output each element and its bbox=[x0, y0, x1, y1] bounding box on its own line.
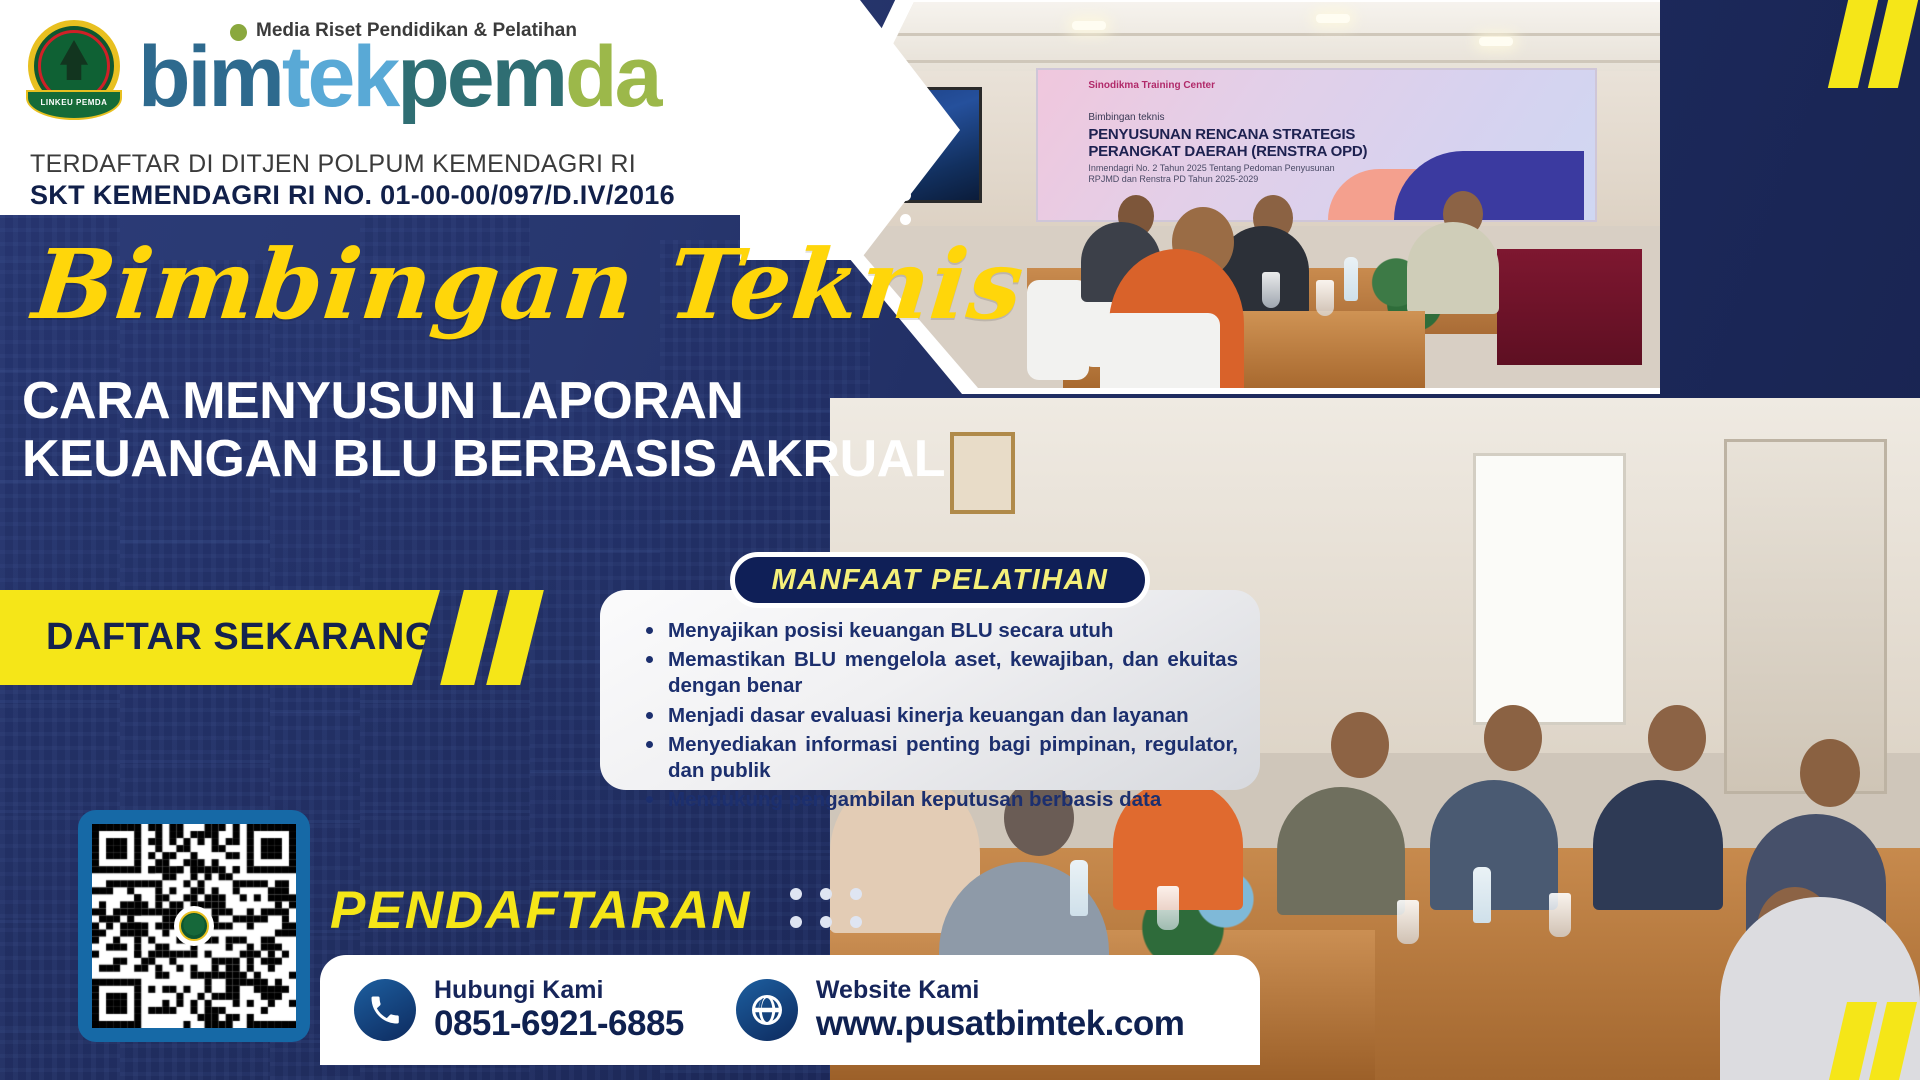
banner-kicker: Bimbingan teknis bbox=[1088, 112, 1164, 123]
benefits-card: Menyajikan posisi keuangan BLU secara ut… bbox=[600, 590, 1260, 790]
headline-line-1: CARA MENYUSUN LAPORAN bbox=[22, 372, 743, 430]
banner-title: PENYUSUNAN RENCANA STRATEGIS PERANGKAT D… bbox=[1088, 127, 1367, 161]
website-value: www.pusatbimtek.com bbox=[816, 1004, 1184, 1043]
qr-bitmap bbox=[92, 824, 296, 1028]
registration-line-1: TERDAFTAR DI DITJEN POLPUM KEMENDAGRI RI bbox=[30, 150, 636, 179]
phone-label: Hubungi Kami bbox=[434, 977, 684, 1004]
brand-header: LINKEU PEMDA Media Riset Pendidikan & Pe… bbox=[0, 0, 880, 215]
website-label: Website Kami bbox=[816, 977, 1184, 1004]
benefit-item: Menyajikan posisi keuangan BLU secara ut… bbox=[646, 618, 1238, 644]
brand-tagline: Media Riset Pendidikan & Pelatihan bbox=[256, 20, 577, 42]
benefits-title: MANFAAT PELATIHAN bbox=[772, 564, 1109, 597]
pendaftaran-label: PENDAFTARAN bbox=[330, 880, 751, 941]
page-title: CARA MENYUSUN LAPORAN KEUANGAN BLU BERBA… bbox=[22, 372, 945, 488]
banner-note: Inmendagri No. 2 Tahun 2025 Tentang Pedo… bbox=[1088, 163, 1334, 185]
register-now-button[interactable]: DAFTAR SEKARANG bbox=[0, 590, 440, 685]
crest-ribbon-text: LINKEU PEMDA bbox=[28, 98, 120, 107]
benefits-title-pill: MANFAAT PELATIHAN bbox=[730, 552, 1150, 608]
benefits-list: Menyajikan posisi keuangan BLU secara ut… bbox=[646, 618, 1238, 814]
register-now-label: DAFTAR SEKARANG bbox=[46, 616, 435, 659]
contact-phone[interactable]: Hubungi Kami 0851-6921-6885 bbox=[354, 977, 684, 1043]
registration-line-2: SKT KEMENDAGRI RI NO. 01-00-00/097/D.IV/… bbox=[30, 180, 675, 211]
phone-icon bbox=[354, 979, 416, 1041]
brand-name: bimtekpemda bbox=[138, 38, 659, 117]
linkeu-pemda-crest-icon: LINKEU PEMDA bbox=[20, 14, 128, 122]
qr-center-logo-icon bbox=[174, 906, 214, 946]
benefit-item: Mendukung pengambilan keputusan berbasis… bbox=[646, 787, 1238, 813]
registration-qr-code[interactable] bbox=[78, 810, 310, 1042]
benefit-item: Memastikan BLU mengelola aset, kewajiban… bbox=[646, 647, 1238, 699]
globe-icon bbox=[736, 979, 798, 1041]
contact-website[interactable]: Website Kami www.pusatbimtek.com bbox=[736, 977, 1184, 1043]
phone-value: 0851-6921-6885 bbox=[434, 1004, 684, 1043]
benefit-item: Menyediakan informasi penting bagi pimpi… bbox=[646, 732, 1238, 784]
script-title: Bimbingan Teknis bbox=[28, 228, 1029, 341]
event-backdrop-banner: Sinodikma Training Center Bimbingan tekn… bbox=[1036, 68, 1596, 222]
poster-root: Sinodikma Training Center Bimbingan tekn… bbox=[0, 0, 1920, 1080]
benefit-item: Menjadi dasar evaluasi kinerja keuangan … bbox=[646, 703, 1238, 729]
dot-grid-pendaftaran bbox=[790, 888, 880, 944]
contact-bar: Hubungi Kami 0851-6921-6885 Website Kami… bbox=[320, 955, 1260, 1065]
headline-line-2: KEUANGAN BLU BERBASIS AKRUAL bbox=[22, 430, 945, 488]
wordmark: Media Riset Pendidikan & Pelatihan bimte… bbox=[138, 18, 659, 117]
banner-org-name: Sinodikma Training Center bbox=[1088, 80, 1215, 91]
